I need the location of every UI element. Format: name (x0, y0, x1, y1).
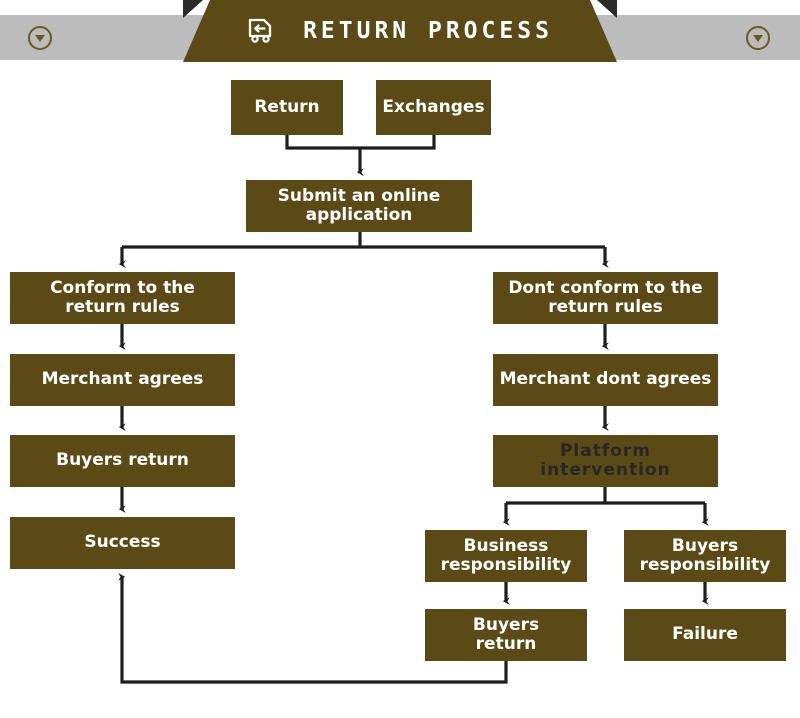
flowchart: Return Exchanges Submit an online applic… (0, 0, 800, 718)
node-failure[interactable]: Failure (624, 609, 786, 661)
node-merchant-agrees[interactable]: Merchant agrees (10, 354, 235, 406)
node-submit-application[interactable]: Submit an online application (246, 180, 472, 232)
node-platform-intervention[interactable]: Platform intervention (493, 435, 718, 487)
node-dont-conform-to-return-rules[interactable]: Dont conform to the return rules (493, 272, 718, 324)
node-conform-to-return-rules[interactable]: Conform to the return rules (10, 272, 235, 324)
node-return[interactable]: Return (231, 80, 343, 135)
node-success[interactable]: Success (10, 517, 235, 569)
node-merchant-dont-agrees[interactable]: Merchant dont agrees (493, 354, 718, 406)
node-business-responsibility[interactable]: Business responsibility (425, 530, 587, 582)
node-buyers-responsibility[interactable]: Buyers responsibility (624, 530, 786, 582)
node-exchanges[interactable]: Exchanges (376, 80, 491, 135)
node-buyers-return-right[interactable]: Buyers return (425, 609, 587, 661)
node-buyers-return-left[interactable]: Buyers return (10, 435, 235, 487)
